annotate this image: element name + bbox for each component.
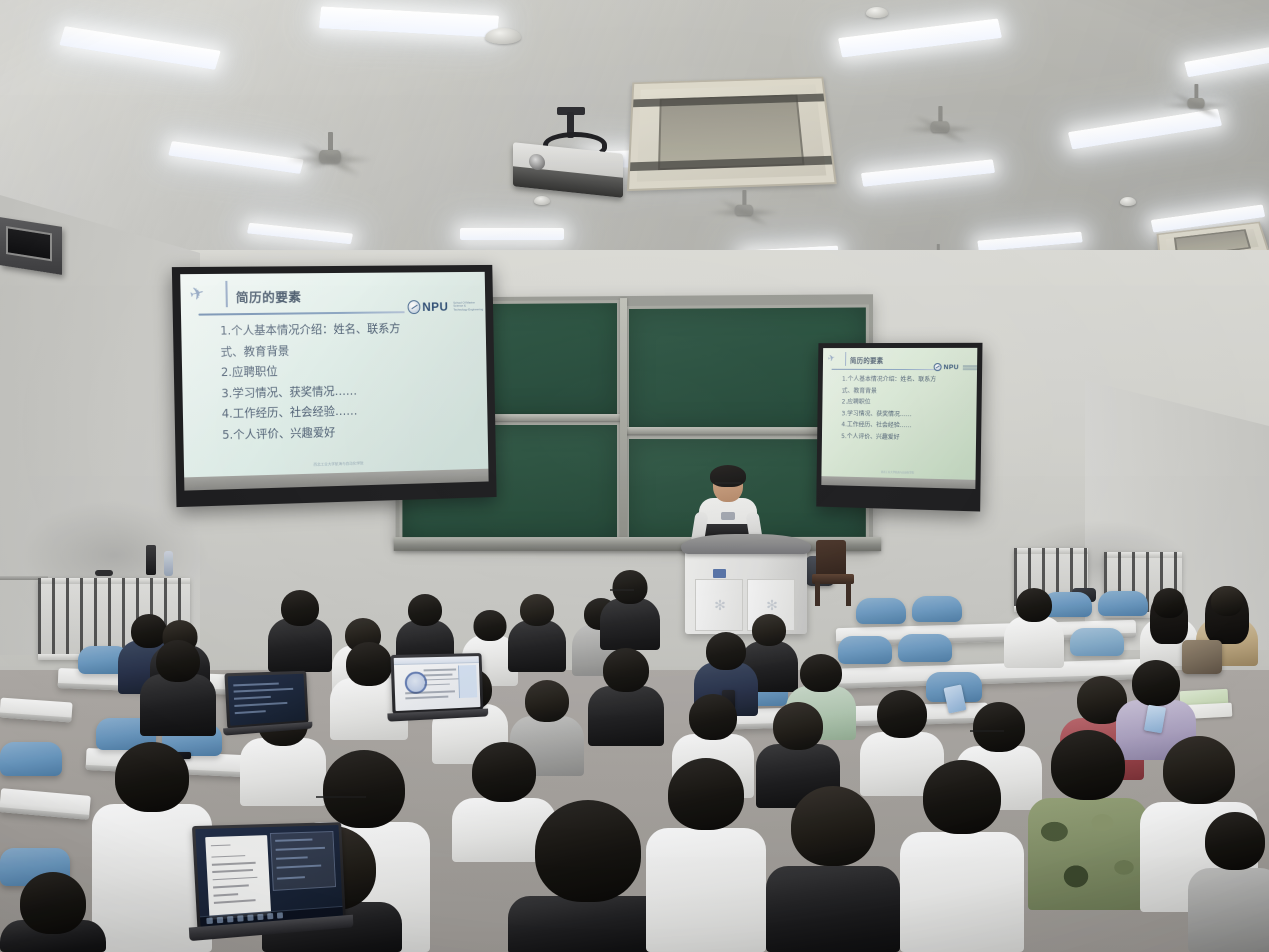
- wooden-chair: [812, 540, 854, 606]
- student: [508, 800, 668, 952]
- empty-seat: [1070, 628, 1124, 656]
- student: [1004, 588, 1064, 668]
- ceiling-light: [460, 228, 564, 240]
- laptop-screen[interactable]: [394, 656, 481, 711]
- student-torso: [1004, 616, 1064, 668]
- student-torso: [508, 896, 668, 952]
- student-head: [791, 786, 875, 866]
- student-head: [472, 742, 536, 802]
- student-torso: [766, 866, 900, 952]
- slide-footer: 西北工业大学航海与自动化学院: [821, 468, 975, 476]
- slide-bullet: 式、教育背景: [220, 341, 400, 360]
- student-head: [668, 758, 744, 830]
- slide-bullet: 2.应聘职位: [842, 397, 936, 407]
- taskbar-icon[interactable]: [227, 916, 233, 923]
- student: [508, 594, 566, 672]
- student-torso: [900, 832, 1024, 952]
- laptop-front-left[interactable]: [192, 822, 346, 930]
- chair-leg: [846, 582, 851, 606]
- ide-row: [233, 682, 279, 686]
- npu-logo: NPU: [934, 363, 978, 371]
- doc-text-line: [406, 696, 449, 699]
- taskbar-icon[interactable]: [267, 913, 273, 919]
- taskbar-icon[interactable]: [217, 917, 224, 924]
- paper-plane-icon: ✈: [188, 284, 207, 304]
- student-head: [613, 570, 648, 604]
- slide-title: 简历的要素: [850, 355, 884, 365]
- ide-row: [233, 688, 292, 693]
- student-head: [1016, 588, 1052, 622]
- doc-text-line: [424, 669, 456, 672]
- doc-text-line: [213, 893, 238, 896]
- slide-bullet: 1.个人基本情况介绍：姓名、联系方: [220, 320, 401, 338]
- student-head: [800, 654, 842, 692]
- student-head: [346, 642, 392, 686]
- doc-text-line: [213, 884, 249, 888]
- title-divider-bar: [845, 352, 846, 366]
- doc-text-line: [424, 683, 450, 686]
- glasses-icon: [610, 589, 634, 595]
- slide-bullet: 5.个人评价、兴趣爱好: [222, 422, 402, 442]
- slide-bullet: 1.个人基本情况介绍：姓名、联系方: [842, 374, 936, 383]
- chalkboard-center-divider: [620, 298, 627, 544]
- student-head: [877, 690, 927, 738]
- taskbar-icon[interactable]: [237, 915, 243, 922]
- slide-bullet: 3.学习情况、获奖情况……: [841, 408, 935, 418]
- student-head: [1211, 586, 1243, 616]
- slide-bullet: 式、教育背景: [842, 385, 936, 395]
- empty-seat: [856, 598, 906, 624]
- student: [766, 786, 900, 952]
- student-head: [1163, 736, 1235, 804]
- student: [900, 760, 1024, 952]
- slide-title: 简历的要素: [236, 286, 302, 306]
- ac-cassette-unit: [627, 77, 837, 191]
- student-torso: [268, 618, 332, 672]
- student-head: [281, 590, 319, 626]
- student-head: [1132, 660, 1180, 706]
- lecture-hall-photo: ✈ 简历的要素 NPU School Of Marine Science & T…: [0, 0, 1269, 952]
- side-screen-housing: ✈ 简历的要素 NPU 1.个人基本情况介绍：姓名、联系方 式、教育背景 2.应…: [816, 343, 982, 512]
- empty-seat: [0, 742, 62, 776]
- snowflake-icon: ✻: [765, 598, 779, 612]
- laptop-screen[interactable]: [195, 825, 343, 927]
- title-divider-bar: [225, 281, 227, 307]
- student-head: [923, 760, 1001, 834]
- student-head: [474, 610, 507, 641]
- npu-logo-text: NPU: [944, 364, 959, 371]
- student-torso: [1188, 868, 1269, 952]
- paper-plane-icon: ✈: [827, 353, 836, 363]
- slide-bullet: 2.应聘职位: [221, 361, 401, 380]
- student: [268, 590, 332, 672]
- glasses-icon: [715, 482, 741, 488]
- student: [0, 872, 106, 952]
- glasses-icon: [970, 730, 1004, 736]
- npu-logo: NPU School Of Marine Science & Technolog…: [407, 299, 485, 314]
- smoke-detector-icon: [485, 28, 521, 44]
- student-head: [535, 800, 641, 902]
- podium-badge: [713, 569, 726, 578]
- slide-bullet: 4.工作经历、社会经验……: [222, 402, 402, 422]
- student-head: [973, 702, 1025, 752]
- object-on-radiator: [95, 570, 113, 576]
- ide-row: [234, 710, 265, 714]
- doc-text-line: [424, 678, 458, 681]
- presenter-shirt-logo: [721, 512, 735, 520]
- ide-row: [277, 876, 305, 880]
- student: [646, 758, 766, 952]
- document-sidebar[interactable]: [458, 665, 477, 697]
- podium-door: ✻: [695, 579, 743, 631]
- main-screen-housing: ✈ 简历的要素 NPU School Of Marine Science & T…: [172, 265, 497, 507]
- student-head: [323, 750, 405, 828]
- student-head: [115, 742, 189, 812]
- smoke-detector-icon: [866, 7, 888, 18]
- slide-side: ✈ 简历的要素 NPU 1.个人基本情况介绍：姓名、联系方 式、教育背景 2.应…: [821, 348, 977, 480]
- student-torso: [646, 828, 766, 952]
- doc-text-line: [211, 855, 245, 858]
- slide-bullet: 5.个人评价、兴趣爱好: [841, 431, 935, 442]
- main-projection-screen: ✈ 简历的要素 NPU School Of Marine Science & T…: [180, 272, 488, 478]
- laptop-mid-left[interactable]: [391, 653, 484, 714]
- ide-row: [276, 847, 325, 851]
- taskbar-icon[interactable]: [277, 912, 283, 918]
- slide-main: ✈ 简历的要素 NPU School Of Marine Science & T…: [180, 272, 488, 478]
- doc-text-line: [212, 869, 253, 873]
- object-on-radiator: [146, 545, 156, 575]
- student-head: [408, 594, 442, 626]
- podium-worktop: [681, 534, 811, 554]
- slide-body: 1.个人基本情况介绍：姓名、联系方 式、教育背景 2.应聘职位 3.学习情况、获…: [220, 320, 402, 442]
- student-torso: [1028, 798, 1148, 910]
- fan-rod: [328, 132, 333, 152]
- doc-text-line: [210, 844, 230, 846]
- npu-logo-subtitle-line2: Technology Engineering: [453, 308, 485, 311]
- slide-header-rule: [832, 369, 936, 371]
- npu-logo-subtitle: [963, 365, 977, 370]
- smoke-detector-icon: [1120, 197, 1136, 206]
- ide-row: [276, 857, 307, 860]
- student-head: [1205, 812, 1265, 870]
- water-bottle-icon: [164, 551, 173, 576]
- student: [600, 570, 660, 650]
- student: [1188, 812, 1269, 952]
- taskbar-icon[interactable]: [257, 914, 263, 920]
- student: [1028, 730, 1148, 910]
- ide-row: [234, 702, 288, 707]
- student-head: [773, 702, 823, 750]
- laptop-mid-center[interactable]: [224, 671, 308, 729]
- student-head: [1153, 588, 1185, 618]
- student-head: [603, 648, 649, 692]
- slide-body: 1.个人基本情况介绍：姓名、联系方 式、教育背景 2.应聘职位 3.学习情况、获…: [841, 374, 936, 442]
- student: [588, 648, 664, 746]
- student-head: [689, 694, 737, 740]
- slide-header-rule: [198, 311, 404, 316]
- empty-seat: [912, 596, 962, 622]
- taskbar-icon[interactable]: [247, 914, 253, 921]
- student-torso: [588, 686, 664, 746]
- student-head: [706, 632, 746, 670]
- chair-leg: [815, 582, 820, 606]
- empty-seat: [898, 634, 952, 662]
- student-head: [525, 680, 569, 722]
- student-torso: [140, 674, 216, 736]
- slide-bullet: 4.工作经历、社会经验……: [841, 420, 935, 430]
- document-pane: [205, 835, 271, 921]
- slide-bullet: 3.学习情况、获奖情况……: [221, 381, 401, 401]
- backpack-on-seat: [1182, 640, 1222, 674]
- secondary-projection-screen: ✈ 简历的要素 NPU 1.个人基本情况介绍：姓名、联系方 式、教育背景 2.应…: [821, 348, 977, 480]
- student-head: [1051, 730, 1125, 800]
- doc-text-line: [214, 899, 256, 903]
- doc-text-line: [212, 877, 257, 881]
- npu-emblem-icon: [407, 300, 420, 314]
- smoke-detector-icon: [534, 196, 550, 205]
- chair-back: [816, 540, 846, 578]
- wall-speaker: [0, 217, 62, 275]
- npu-emblem-icon: [934, 363, 942, 371]
- student-head: [20, 872, 86, 934]
- npu-logo-text: NPU: [422, 300, 448, 314]
- ide-side-panel: [270, 831, 336, 891]
- doc-text-line: [424, 674, 453, 676]
- glasses-icon: [316, 796, 366, 802]
- snowflake-icon: ✻: [713, 598, 727, 612]
- laptop-screen[interactable]: [228, 674, 306, 726]
- ide-row: [234, 696, 271, 700]
- student: [140, 640, 216, 736]
- student-torso: [600, 598, 660, 650]
- doc-text-line: [211, 862, 255, 866]
- student-torso: [508, 620, 566, 672]
- ide-row: [276, 865, 321, 869]
- student-head: [156, 640, 200, 682]
- taskbar-icon[interactable]: [206, 917, 213, 924]
- student-head: [520, 594, 554, 626]
- speaker-grille-icon: [6, 226, 52, 261]
- browser-toolbar[interactable]: [394, 656, 479, 665]
- ide-row: [275, 839, 312, 842]
